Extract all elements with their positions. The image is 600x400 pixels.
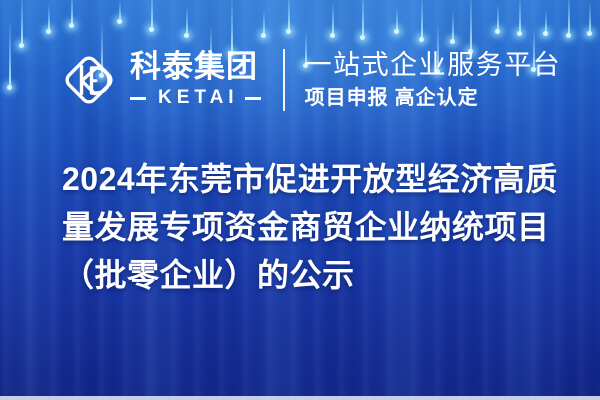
brand-header: 科泰集团 KETAI 一站式企业服务平台 项目申报 高企认定 [58, 40, 561, 120]
brand-name-en-row: KETAI [130, 87, 261, 109]
wordmark-dash-left-icon [130, 97, 146, 100]
announcement-title: 2024年东莞市促进开放型经济高质 量发展专项资金商贸企业纳统项目 （批零企业）… [62, 155, 562, 299]
title-line-1: 2024年东莞市促进开放型经济高质 [62, 155, 562, 203]
brand-wordmark: 科泰集团 KETAI [130, 51, 261, 110]
bottom-strip [0, 396, 600, 400]
title-line-2: 量发展专项资金商贸企业纳统项目 [62, 203, 562, 251]
brand-name-en: KETAI [153, 87, 239, 109]
title-line-3: （批零企业）的公示 [62, 251, 562, 299]
wordmark-dash-right-icon [245, 97, 261, 100]
header-divider [283, 49, 285, 111]
ketai-logo-icon [58, 49, 120, 111]
brand-name-cn: 科泰集团 [130, 51, 261, 83]
tagline-block: 一站式企业服务平台 项目申报 高企认定 [305, 51, 562, 110]
announcement-banner: 科泰集团 KETAI 一站式企业服务平台 项目申报 高企认定 2024年东莞市促… [0, 0, 600, 400]
tagline-sub: 项目申报 高企认定 [305, 87, 562, 109]
tagline-main: 一站式企业服务平台 [305, 51, 562, 81]
